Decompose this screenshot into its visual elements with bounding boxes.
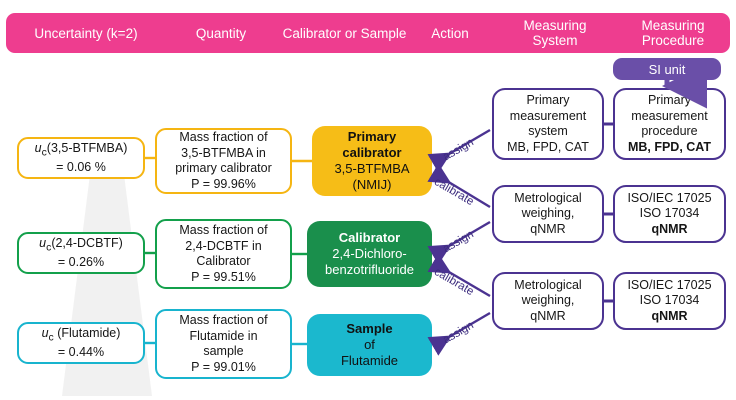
material-sub-row3: of Flutamide [307, 337, 432, 369]
measuring-procedure-box-row2: ISO/IEC 17025 ISO 17034qNMR [613, 185, 726, 243]
quantity-text-row1: Mass fraction of 3,5-BTFMBA in primary c… [157, 130, 290, 192]
header-col-measuring-procedure: Measuring Procedure [613, 18, 733, 48]
ms-lines-row3: Metrological weighing, qNMR [494, 278, 602, 325]
mp-bold-row3: qNMR [615, 309, 724, 325]
uncertainty-symbol-row3: u [42, 326, 49, 340]
uncertainty-symbol-row1: u [35, 141, 42, 155]
action-label-calibrate-1: calibrate [432, 176, 476, 208]
action-label-assign-3: assign [441, 319, 476, 346]
diagram-canvas: Uncertainty (k=2) Quantity Calibrator or… [0, 0, 736, 400]
material-box-row2: Calibrator2,4-Dichloro- benzotrifluoride [307, 221, 432, 287]
uncertainty-arg-row2: (2,4-DCBTF) [51, 236, 123, 250]
measuring-procedure-box-row3: ISO/IEC 17025 ISO 17034qNMR [613, 272, 726, 330]
measuring-system-box-row2: Metrological weighing, qNMR [492, 185, 604, 243]
mp-lines-row1: Primary measurement procedure [615, 93, 724, 140]
ms-lines-row1: Primary measurement system [494, 93, 602, 140]
uncertainty-value-row1: = 0.06 % [56, 160, 106, 174]
si-unit-badge: SI unit [613, 58, 721, 80]
measuring-system-box-row1: Primary measurement systemMB, FPD, CAT [492, 88, 604, 160]
material-sub-row1: 3,5-BTFMBA (NMIJ) [312, 161, 432, 193]
uncertainty-value-row3: = 0.44% [58, 345, 104, 359]
ms-lines-row2: Metrological weighing, qNMR [494, 191, 602, 238]
uncertainty-value-row2: = 0.26% [58, 255, 104, 269]
quantity-box-row1: Mass fraction of 3,5-BTFMBA in primary c… [155, 128, 292, 194]
material-title-row3: Sample [307, 321, 432, 337]
header-col-uncertainty: Uncertainty (k=2) [6, 26, 166, 41]
uncertainty-box-row1: uc(3,5-BTFMBA)= 0.06 % [17, 137, 145, 179]
mp-lines-row3: ISO/IEC 17025 ISO 17034 [615, 278, 724, 309]
action-label-assign-1: assign [441, 136, 476, 163]
mp-bold-row1: MB, FPD, CAT [615, 140, 724, 156]
material-box-row3: Sampleof Flutamide [307, 314, 432, 376]
material-box-row1: Primary calibrator3,5-BTFMBA (NMIJ) [312, 126, 432, 196]
header-col-measuring-system: Measuring System [495, 18, 615, 48]
quantity-text-row2: Mass fraction of 2,4-DCBTF in Calibrator… [157, 223, 290, 285]
mp-bold-row2: qNMR [615, 222, 724, 238]
header-col-action: Action [415, 26, 485, 41]
material-sub-row2: 2,4-Dichloro- benzotrifluoride [307, 246, 432, 278]
material-title-row1: Primary calibrator [312, 129, 432, 161]
action-label-calibrate-2: calibrate [432, 266, 476, 298]
uncertainty-box-row2: uc(2,4-DCBTF)= 0.26% [17, 232, 145, 274]
quantity-text-row3: Mass fraction of Flutamide in sample P =… [157, 313, 290, 375]
measuring-system-box-row3: Metrological weighing, qNMR [492, 272, 604, 330]
measuring-procedure-box-row1: Primary measurement procedureMB, FPD, CA… [613, 88, 726, 160]
material-title-row2: Calibrator [307, 230, 432, 246]
header-col-calibrator-or-sample: Calibrator or Sample [272, 26, 417, 41]
quantity-box-row2: Mass fraction of 2,4-DCBTF in Calibrator… [155, 219, 292, 289]
uncertainty-arg-row1: (3,5-BTFMBA) [47, 141, 128, 155]
ms-bold-row1: MB, FPD, CAT [494, 140, 602, 156]
uncertainty-arg-row3: (Flutamide) [54, 326, 121, 340]
quantity-box-row3: Mass fraction of Flutamide in sample P =… [155, 309, 292, 379]
mp-lines-row2: ISO/IEC 17025 ISO 17034 [615, 191, 724, 222]
header-col-quantity: Quantity [166, 26, 276, 41]
action-label-assign-2: assign [441, 228, 476, 255]
uncertainty-box-row3: uc (Flutamide)= 0.44% [17, 322, 145, 364]
